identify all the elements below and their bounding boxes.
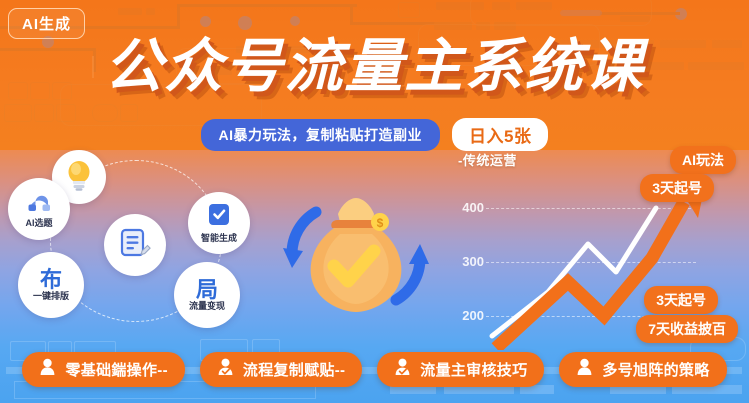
diagram-node-label: 智能生成 <box>201 233 237 244</box>
chart-badge-3day-bottom: 3天起号 <box>644 286 718 314</box>
workflow-diagram: AI选题 智能生成 布 一键排版 局 流量变现 <box>22 152 272 332</box>
feature-pill-copy-process[interactable]: 流程复制赋贴-- <box>200 352 362 387</box>
magnet-icon <box>25 189 53 218</box>
diagram-node-layout: 布 一键排版 <box>18 252 84 318</box>
feature-pill-label: 流程复制赋贴-- <box>243 359 345 380</box>
lightbulb-icon <box>64 159 94 196</box>
feature-pill-multi-account[interactable]: 多号旭阵的策略 <box>559 352 726 387</box>
chart-badge-3day-top: 3天起号 <box>640 174 714 202</box>
diagram-node-label: AI选题 <box>25 218 52 229</box>
diagram-node-glyph: 局 <box>196 279 218 301</box>
page-title: 公众号流量主系统课 <box>0 36 749 98</box>
banner-canvas: AI生成 公众号流量主系统课 AI暴力玩法，复制粘贴打造副业 日入5张 <box>0 0 749 403</box>
feature-pill-label: 零基础鍴操作-- <box>65 359 167 380</box>
feature-pill-label: 流量主审核技巧 <box>420 359 527 380</box>
user-icon <box>576 358 593 381</box>
subtitle-pill: AI暴力玩法，复制粘贴打造副业 <box>201 119 441 151</box>
highlight-pill: 日入5张 <box>452 118 548 151</box>
feature-pill-label: 多号旭阵的策略 <box>602 359 709 380</box>
ai-generated-chip: AI生成 <box>8 8 85 39</box>
user-icon <box>39 358 56 381</box>
diagram-node-document <box>104 214 166 276</box>
diagram-node-ai-topic: AI选题 <box>8 178 70 240</box>
chart-badge-ai-method: AI玩法 <box>670 146 736 174</box>
diagram-node-label: 流量变现 <box>189 301 225 312</box>
svg-text:$: $ <box>377 216 384 230</box>
diagram-node-monetize: 局 流量变现 <box>174 262 240 328</box>
chart-series-traditional <box>492 208 656 336</box>
diagram-node-label: 一键排版 <box>33 291 69 302</box>
user-check-icon <box>394 358 411 381</box>
document-pen-icon <box>118 227 152 264</box>
chart-badge-7day: 7天收益披百 <box>636 315 738 343</box>
money-bag-illustration: $ <box>276 186 436 326</box>
growth-chart: -传统运营 400 300 200 AI玩法 3天起号 3天起号 7天收益披百 <box>440 150 740 350</box>
subtitle-row: AI暴力玩法，复制粘贴打造副业 日入5张 <box>0 118 749 151</box>
feature-pill-row: 零基础鍴操作-- 流程复制赋贴-- 流量主审核技巧 <box>0 352 749 387</box>
check-doc-icon <box>206 202 232 233</box>
diagram-node-glyph: 布 <box>40 269 62 291</box>
feature-pill-zero-basis[interactable]: 零基础鍴操作-- <box>22 352 184 387</box>
feature-pill-review-tips[interactable]: 流量主审核技巧 <box>377 352 544 387</box>
user-check-icon <box>217 358 234 381</box>
diagram-node-smart-generate: 智能生成 <box>188 192 250 254</box>
